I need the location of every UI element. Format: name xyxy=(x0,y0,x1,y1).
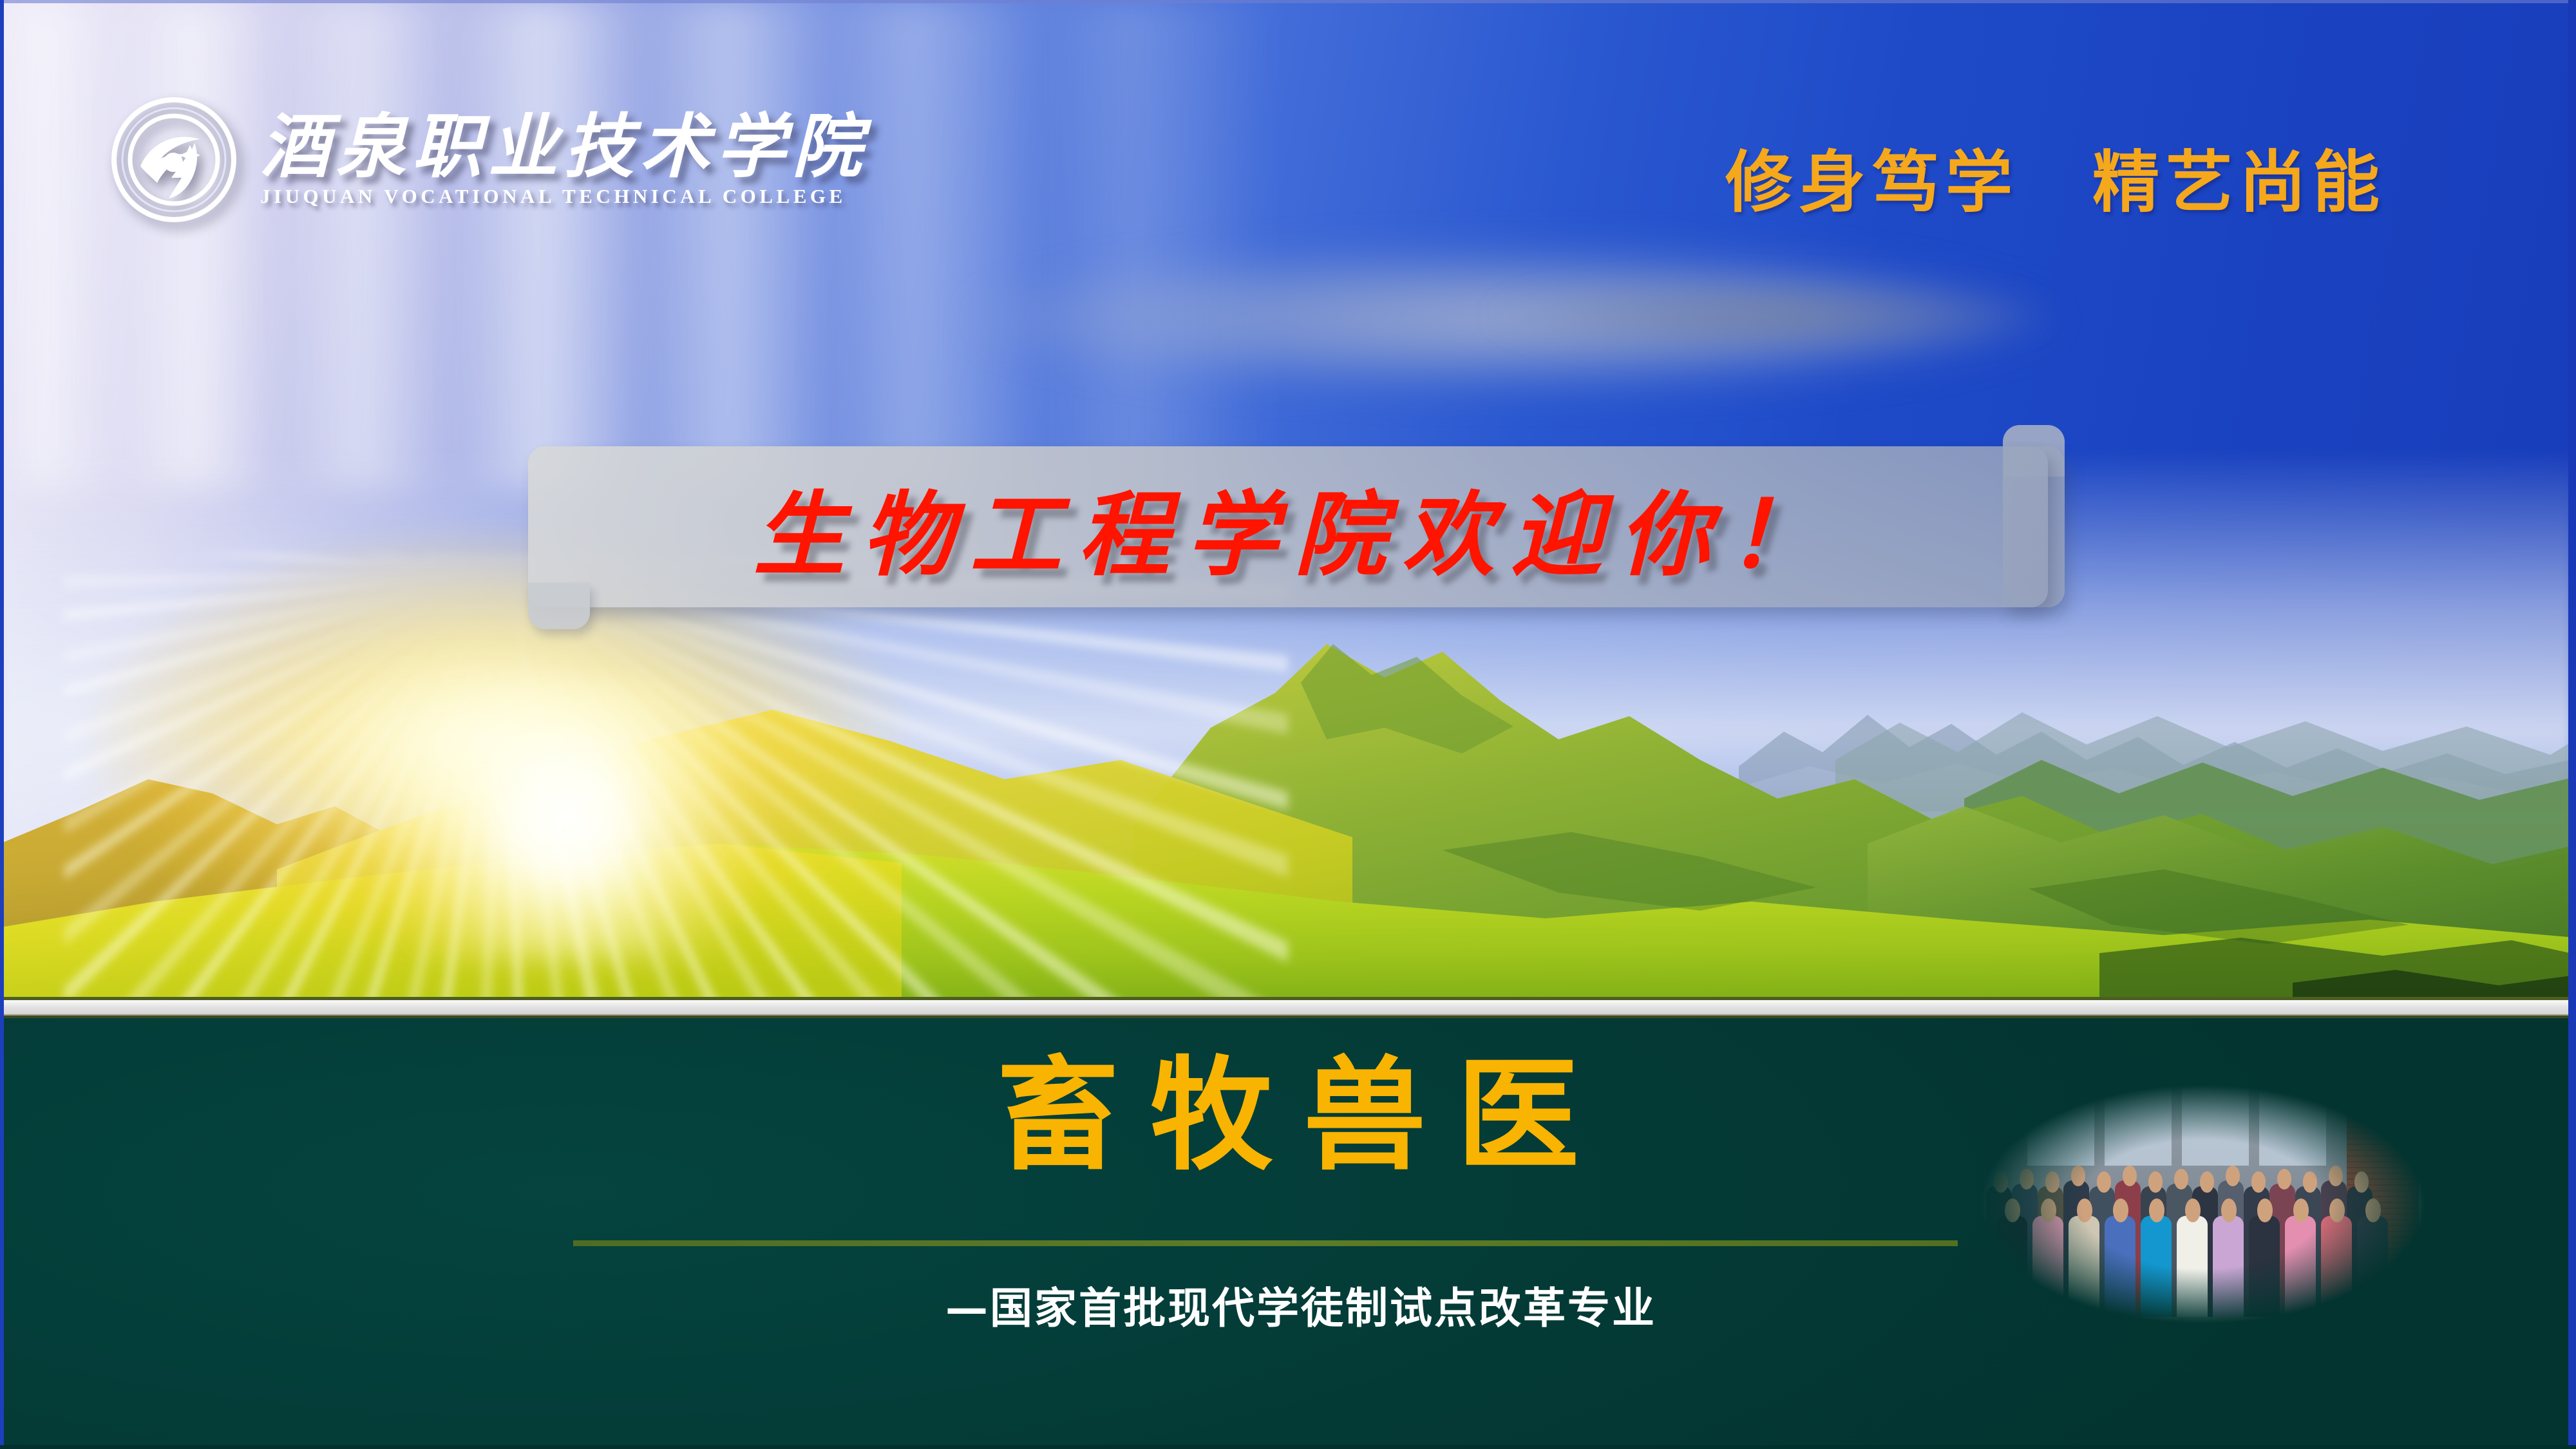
photo-head xyxy=(2303,1171,2317,1192)
photo-head xyxy=(2123,1166,2137,1186)
photo-window xyxy=(2105,1086,2172,1166)
frame-top xyxy=(0,0,2576,3)
photo-head xyxy=(2257,1198,2273,1222)
photo-person xyxy=(2249,1216,2280,1316)
photo-head xyxy=(2020,1169,2034,1189)
photo-head xyxy=(2221,1198,2237,1222)
photo-person xyxy=(2213,1216,2244,1316)
photo-head xyxy=(2071,1166,2085,1186)
photo-head xyxy=(2174,1169,2188,1189)
cloud-band-secondary xyxy=(1481,277,2061,354)
divider-grey-bar xyxy=(0,1000,2576,1016)
frame-left xyxy=(0,0,4,1449)
photo-head xyxy=(2148,1171,2163,1192)
green-mountain-massif xyxy=(0,567,2576,999)
banner-canvas: 酒泉职业技术学院 JIUQUAN VOCATIONAL TECHNICAL CO… xyxy=(0,0,2576,1449)
photo-head xyxy=(2365,1198,2381,1222)
photo-head xyxy=(2354,1171,2369,1192)
photo-head xyxy=(2329,1198,2345,1222)
photo-person xyxy=(2105,1216,2136,1316)
photo-head xyxy=(2293,1198,2309,1222)
photo-head xyxy=(2185,1198,2201,1222)
photo-head xyxy=(2329,1166,2343,1186)
college-logo: 酒泉职业技术学院 JIUQUAN VOCATIONAL TECHNICAL CO… xyxy=(109,95,868,224)
college-emblem-icon xyxy=(109,95,238,224)
college-motto: 修身笃学 精艺尚能 xyxy=(1725,128,2386,225)
photo-window xyxy=(2259,1086,2326,1166)
photo-window xyxy=(2027,1086,2094,1166)
college-name-en: JIUQUAN VOCATIONAL TECHNICAL COLLEGE xyxy=(260,185,868,208)
photo-head xyxy=(2041,1198,2056,1222)
photo-head xyxy=(2097,1171,2111,1192)
college-name-cn: 酒泉职业技术学院 xyxy=(260,111,868,182)
frame-right xyxy=(2568,0,2576,1449)
photo-head xyxy=(2113,1198,2128,1222)
photo-person xyxy=(2177,1216,2208,1316)
photo-sign xyxy=(2419,1110,2439,1240)
photo-person xyxy=(2069,1216,2099,1316)
welcome-plaque: 生物工程学院欢迎你！ xyxy=(528,425,2074,631)
photo-head xyxy=(2045,1171,2060,1192)
photo-head xyxy=(1994,1171,2008,1192)
photo-person xyxy=(1996,1216,2027,1316)
frame-bottom xyxy=(0,1445,2576,1449)
photo-head xyxy=(2251,1171,2266,1192)
photo-head xyxy=(2077,1198,2092,1222)
photo-head xyxy=(2226,1166,2240,1186)
photo-person xyxy=(2357,1216,2388,1316)
photo-person xyxy=(2285,1216,2316,1316)
photo-head xyxy=(2005,1198,2020,1222)
class-group-photo xyxy=(1945,1056,2460,1352)
photo-person xyxy=(2141,1216,2172,1316)
welcome-text: 生物工程学院欢迎你！ xyxy=(528,446,2048,607)
photo-person xyxy=(2321,1216,2352,1316)
photo-person xyxy=(2032,1216,2063,1316)
photo-head xyxy=(2200,1171,2214,1192)
photo-head xyxy=(2149,1198,2164,1222)
photo-head xyxy=(2277,1169,2291,1189)
title-underline xyxy=(573,1240,1958,1246)
photo-window xyxy=(2182,1086,2249,1166)
college-name-block: 酒泉职业技术学院 JIUQUAN VOCATIONAL TECHNICAL CO… xyxy=(260,111,868,208)
